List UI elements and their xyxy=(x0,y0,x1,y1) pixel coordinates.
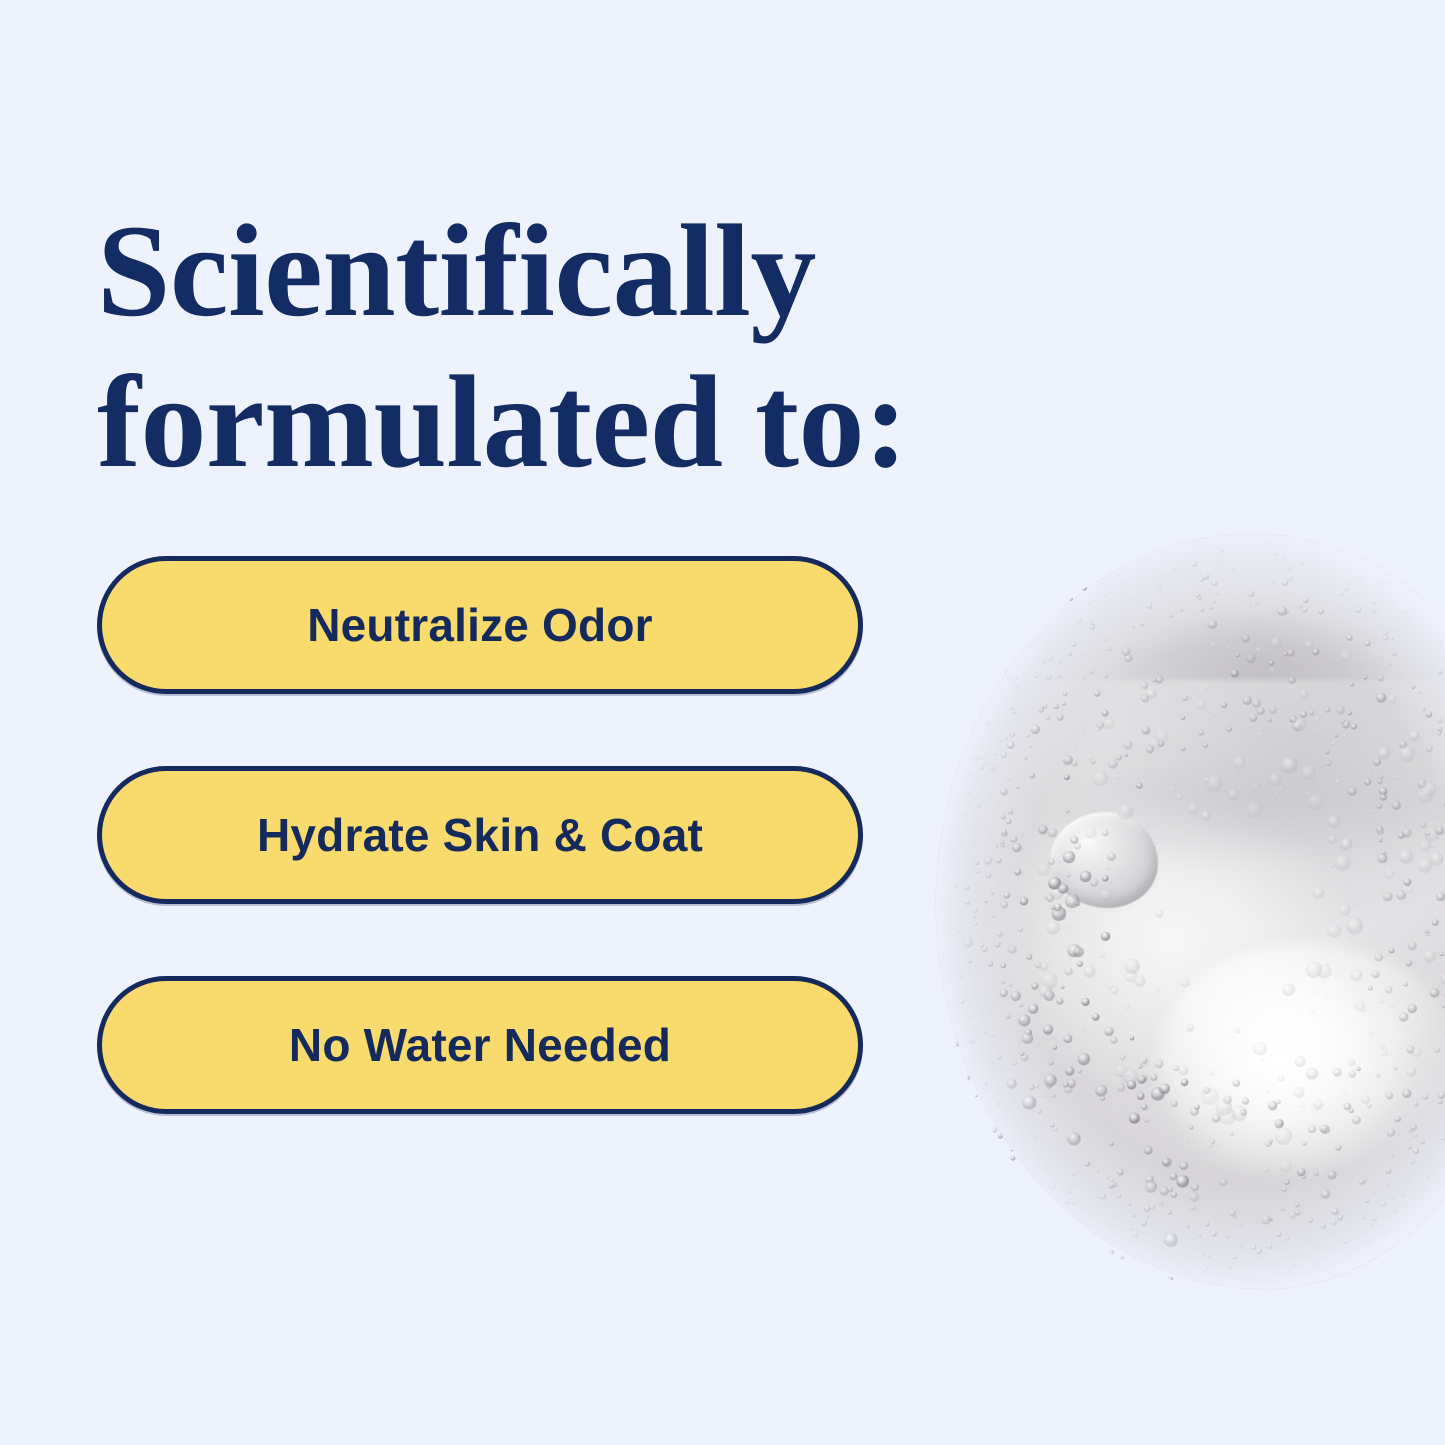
foam-bubbles xyxy=(908,512,1445,1302)
foam-highlight xyxy=(1158,942,1445,1172)
foam-top-bubble-fringe xyxy=(1028,530,1445,680)
foam-image xyxy=(908,512,1445,1312)
benefit-pill-label: Hydrate Skin & Coat xyxy=(257,808,703,862)
page-title: Scientifically formulated to: xyxy=(97,196,957,497)
benefit-list: Neutralize Odor Hydrate Skin & Coat No W… xyxy=(97,556,863,1114)
benefit-pill-label: No Water Needed xyxy=(289,1018,671,1072)
infographic-canvas: Scientifically formulated to: Neutralize… xyxy=(0,0,1445,1445)
benefit-pill-neutralize-odor[interactable]: Neutralize Odor xyxy=(97,556,863,694)
benefit-pill-no-water-needed[interactable]: No Water Needed xyxy=(97,976,863,1114)
foam-soft-edge xyxy=(936,534,1445,1289)
foam-body xyxy=(936,534,1445,1289)
foam-shadow xyxy=(1028,742,1445,862)
foam-dimple xyxy=(1050,812,1158,908)
benefit-pill-label: Neutralize Odor xyxy=(307,598,653,652)
soap-foam-blob xyxy=(908,512,1445,1302)
benefit-pill-hydrate-skin-and-coat[interactable]: Hydrate Skin & Coat xyxy=(97,766,863,904)
